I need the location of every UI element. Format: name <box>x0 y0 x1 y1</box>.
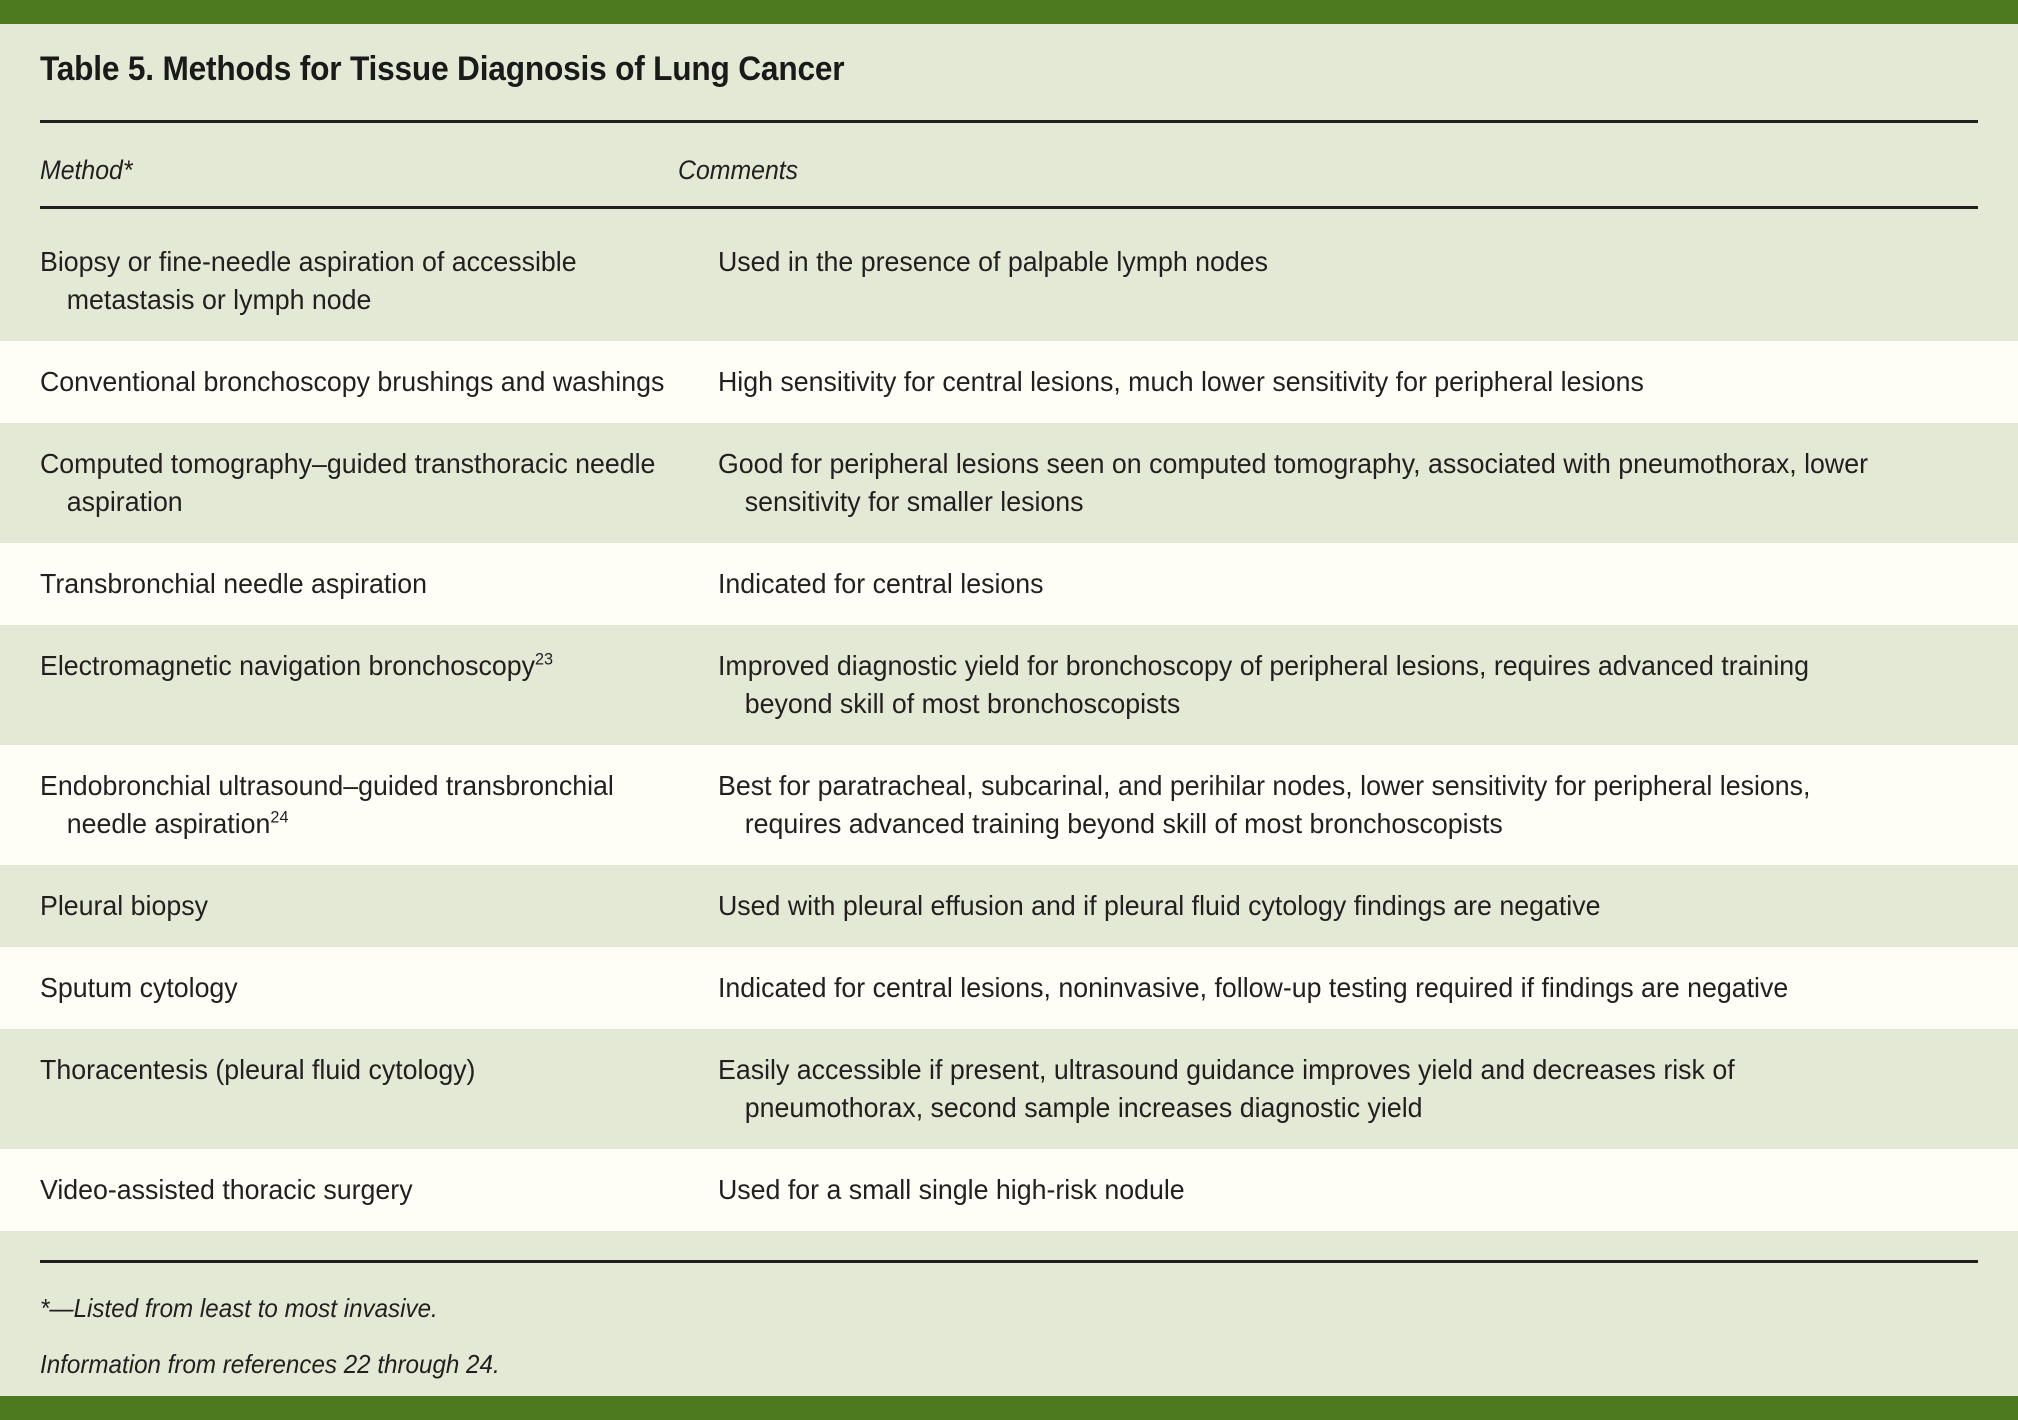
column-header-comments: Comments <box>678 155 798 186</box>
footnote-rule <box>40 1260 1978 1263</box>
table-row: Computed tomography–guided transthoracic… <box>0 423 2018 543</box>
cell-comments: Used for a small single high-risk nodule <box>718 1149 1902 1231</box>
cell-comments: Indicated for central lesions, noninvasi… <box>718 947 1902 1029</box>
cell-comments: Used in the presence of palpable lymph n… <box>718 221 1902 303</box>
cell-comments: Improved diagnostic yield for bronchosco… <box>718 625 1902 745</box>
cell-comments: Best for paratracheal, subcarinal, and p… <box>718 745 1902 865</box>
cell-method: Sputum cytology <box>40 947 687 1029</box>
cell-method: Biopsy or fine-needle aspiration of acce… <box>40 221 687 341</box>
column-header-row: Method* Comments <box>0 155 2018 201</box>
table-row: Video-assisted thoracic surgeryUsed for … <box>0 1149 2018 1231</box>
cell-comments: Easily accessible if present, ultrasound… <box>718 1029 1902 1149</box>
cell-method: Thoracentesis (pleural fluid cytology) <box>40 1029 687 1111</box>
page-title: Table 5. Methods for Tissue Diagnosis of… <box>40 50 844 89</box>
table-row: Conventional bronchoscopy brushings and … <box>0 341 2018 423</box>
cell-method: Transbronchial needle aspiration <box>40 543 687 625</box>
cell-method: Pleural biopsy <box>40 865 687 947</box>
table-row: Sputum cytologyIndicated for central les… <box>0 947 2018 1029</box>
header-top-rule <box>40 120 1978 123</box>
cell-method: Electromagnetic navigation bronchoscopy2… <box>40 625 687 707</box>
table-row: Biopsy or fine-needle aspiration of acce… <box>0 221 2018 341</box>
cell-method: Conventional bronchoscopy brushings and … <box>40 341 687 423</box>
column-header-method: Method* <box>40 155 133 186</box>
table-row: Transbronchial needle aspirationIndicate… <box>0 543 2018 625</box>
cell-comments: Good for peripheral lesions seen on comp… <box>718 423 1902 543</box>
table-row: Thoracentesis (pleural fluid cytology)Ea… <box>0 1029 2018 1149</box>
bottom-accent-bar <box>0 1396 2018 1420</box>
table-body: Biopsy or fine-needle aspiration of acce… <box>0 221 2018 1231</box>
cell-method: Endobronchial ultrasound–guided transbro… <box>40 745 687 865</box>
table-row: Endobronchial ultrasound–guided transbro… <box>0 745 2018 865</box>
table-row: Electromagnetic navigation bronchoscopy2… <box>0 625 2018 745</box>
cell-comments: Indicated for central lesions <box>718 543 1902 625</box>
cell-method: Video-assisted thoracic surgery <box>40 1149 687 1231</box>
footnote: Information from references 22 through 2… <box>40 1346 1842 1382</box>
footnote: *—Listed from least to most invasive. <box>40 1290 1842 1326</box>
cell-comments: High sensitivity for central lesions, mu… <box>718 341 1902 423</box>
cell-comments: Used with pleural effusion and if pleura… <box>718 865 1902 947</box>
reference-superscript: 24 <box>270 808 288 827</box>
cell-method: Computed tomography–guided transthoracic… <box>40 423 687 543</box>
table-figure: Table 5. Methods for Tissue Diagnosis of… <box>0 0 2018 1420</box>
top-accent-bar <box>0 0 2018 24</box>
table-row: Pleural biopsyUsed with pleural effusion… <box>0 865 2018 947</box>
header-bottom-rule <box>40 206 1978 209</box>
footnote-block: *—Listed from least to most invasive.Inf… <box>40 1290 1978 1402</box>
reference-superscript: 23 <box>535 650 553 669</box>
